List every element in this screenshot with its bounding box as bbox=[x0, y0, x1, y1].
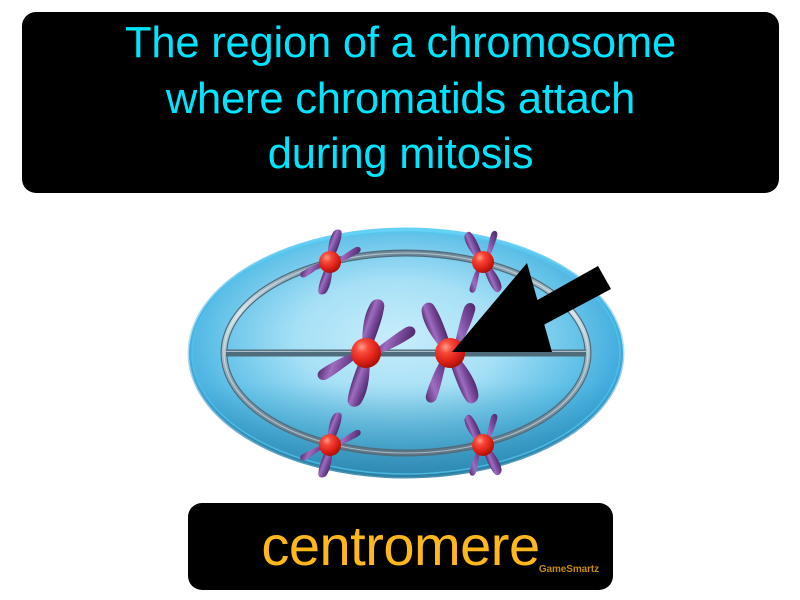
centromere bbox=[319, 251, 341, 273]
centromere bbox=[319, 434, 341, 456]
centromere bbox=[351, 338, 381, 368]
cell-mitosis-illustration bbox=[180, 215, 632, 490]
centromere bbox=[472, 251, 494, 273]
mitosis-diagram-svg bbox=[180, 215, 632, 490]
centromere bbox=[472, 434, 494, 456]
definition-text: The region of a chromosome where chromat… bbox=[125, 16, 676, 183]
definition-banner: The region of a chromosome where chromat… bbox=[22, 12, 779, 193]
term-banner: centromere GameSmartz bbox=[188, 503, 613, 590]
watermark-label: GameSmartz bbox=[539, 564, 599, 575]
